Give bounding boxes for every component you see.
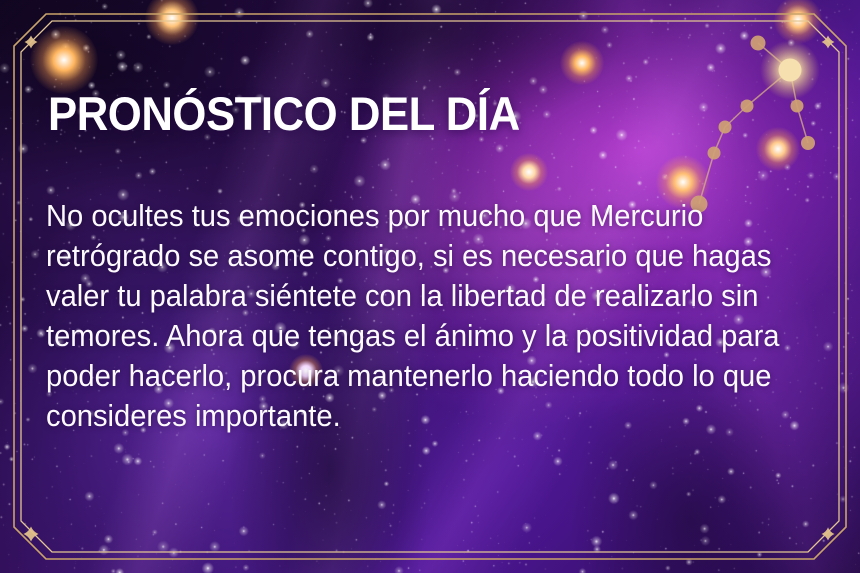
sparkle-top-right xyxy=(822,36,835,49)
sparkle-bottom-left xyxy=(24,527,39,542)
sparkle-top-left xyxy=(25,36,38,49)
card-content: PRONÓSTICO DEL DÍA No ocultes tus emocio… xyxy=(46,0,816,573)
horoscope-forecast-card: PRONÓSTICO DEL DÍA No ocultes tus emocio… xyxy=(0,0,860,573)
page-title: PRONÓSTICO DEL DÍA xyxy=(48,88,520,140)
forecast-body-text: No ocultes tus emociones por mucho que M… xyxy=(46,196,783,436)
sparkle-bottom-right xyxy=(822,528,835,541)
